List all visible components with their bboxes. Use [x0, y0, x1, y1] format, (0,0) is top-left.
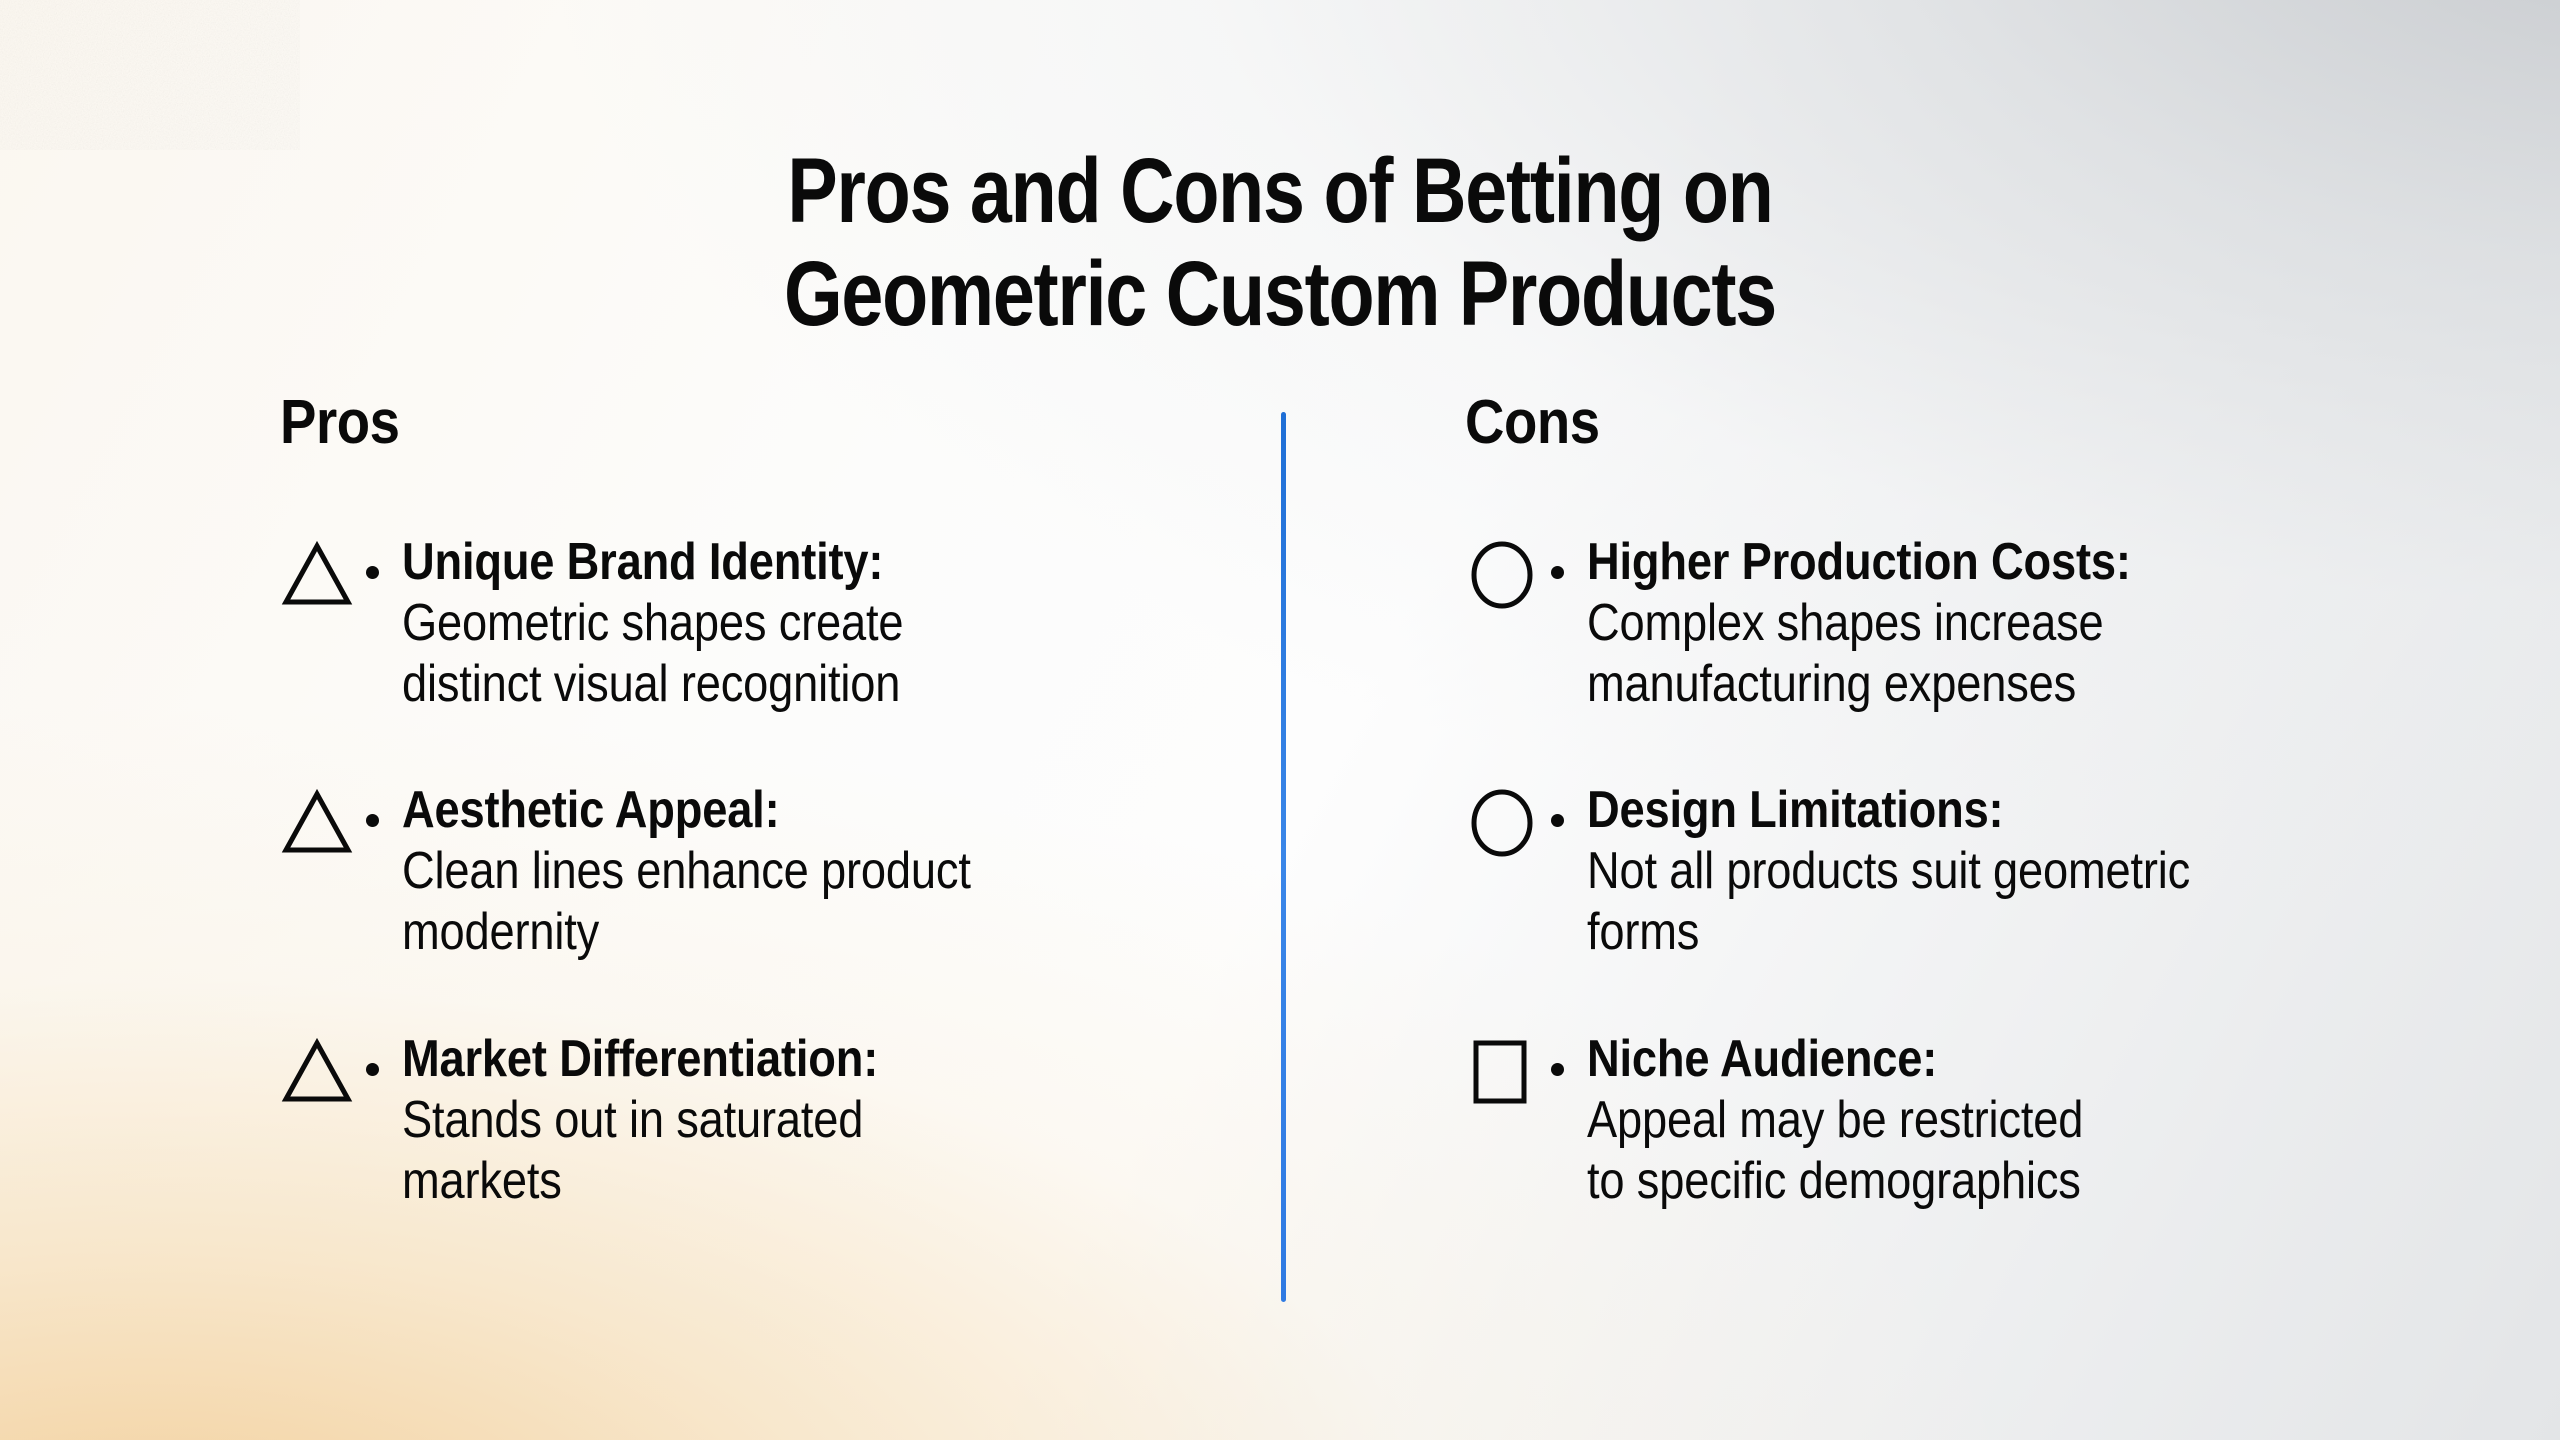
list-item: Niche Audience: Appeal may be restricted…	[1465, 1029, 2465, 1211]
circle-outline-icon	[1465, 538, 1539, 612]
list-item-body-line: forms	[1587, 902, 2465, 963]
list-item-body-line: Appeal may be restricted	[1587, 1090, 2465, 1151]
page-title: Pros and Cons of Betting on Geometric Cu…	[230, 140, 2329, 346]
list-item-body-line: to specific demographics	[1587, 1151, 2465, 1212]
page-title-line-2: Geometric Custom Products	[230, 243, 2329, 346]
list-item-body-line: manufacturing expenses	[1587, 654, 2465, 715]
square-outline-icon	[1465, 1035, 1539, 1109]
triangle-outline-icon	[280, 1035, 354, 1109]
list-item-lead: Design Limitations:	[1587, 780, 2465, 841]
list-item-body-line: Clean lines enhance product	[402, 841, 1240, 902]
list-item-text: Aesthetic Appeal: Clean lines enhance pr…	[402, 780, 1240, 962]
bullet-dot-icon	[366, 814, 379, 827]
list-item-text: Market Differentiation: Stands out in sa…	[402, 1029, 1240, 1211]
list-item: Market Differentiation: Stands out in sa…	[280, 1029, 1240, 1211]
cons-column-heading: Cons	[1465, 392, 2345, 454]
list-item-text: Design Limitations: Not all products sui…	[1587, 780, 2465, 962]
bullet-dot-icon	[1551, 1063, 1564, 1076]
list-item: Higher Production Costs: Complex shapes …	[1465, 532, 2465, 714]
list-item: Design Limitations: Not all products sui…	[1465, 780, 2465, 962]
circle-outline-icon	[1465, 786, 1539, 860]
paper-grain-texture	[0, 0, 300, 150]
list-item-body-line: Geometric shapes create	[402, 593, 1240, 654]
list-item-body-line: markets	[402, 1151, 1240, 1212]
list-item: Unique Brand Identity: Geometric shapes …	[280, 532, 1240, 714]
list-item-text: Unique Brand Identity: Geometric shapes …	[402, 532, 1240, 714]
list-item-body-line: Stands out in saturated	[402, 1090, 1240, 1151]
cons-column: Cons Higher Production Costs: Complex sh…	[1465, 392, 2465, 1211]
list-item-body-line: Not all products suit geometric	[1587, 841, 2465, 902]
list-item: Aesthetic Appeal: Clean lines enhance pr…	[280, 780, 1240, 962]
bullet-dot-icon	[1551, 814, 1564, 827]
triangle-outline-icon	[280, 786, 354, 860]
bullet-dot-icon	[366, 1063, 379, 1076]
slide-canvas: Pros and Cons of Betting on Geometric Cu…	[0, 0, 2560, 1440]
list-item-body-line: Complex shapes increase	[1587, 593, 2465, 654]
list-item-lead: Higher Production Costs:	[1587, 532, 2465, 593]
vertical-divider	[1281, 412, 1286, 1302]
pros-column: Pros Unique Brand Identity: Geometric sh…	[280, 392, 1240, 1211]
list-item-lead: Aesthetic Appeal:	[402, 780, 1240, 841]
list-item-body-line: modernity	[402, 902, 1240, 963]
triangle-outline-icon	[280, 538, 354, 612]
list-item-lead: Market Differentiation:	[402, 1029, 1240, 1090]
page-title-line-1: Pros and Cons of Betting on	[230, 140, 2329, 243]
list-item-text: Higher Production Costs: Complex shapes …	[1587, 532, 2465, 714]
bullet-dot-icon	[366, 566, 379, 579]
list-item-body-line: distinct visual recognition	[402, 654, 1240, 715]
list-item-text: Niche Audience: Appeal may be restricted…	[1587, 1029, 2465, 1211]
bullet-dot-icon	[1551, 566, 1564, 579]
list-item-lead: Unique Brand Identity:	[402, 532, 1240, 593]
pros-column-heading: Pros	[280, 392, 1125, 454]
list-item-lead: Niche Audience:	[1587, 1029, 2465, 1090]
